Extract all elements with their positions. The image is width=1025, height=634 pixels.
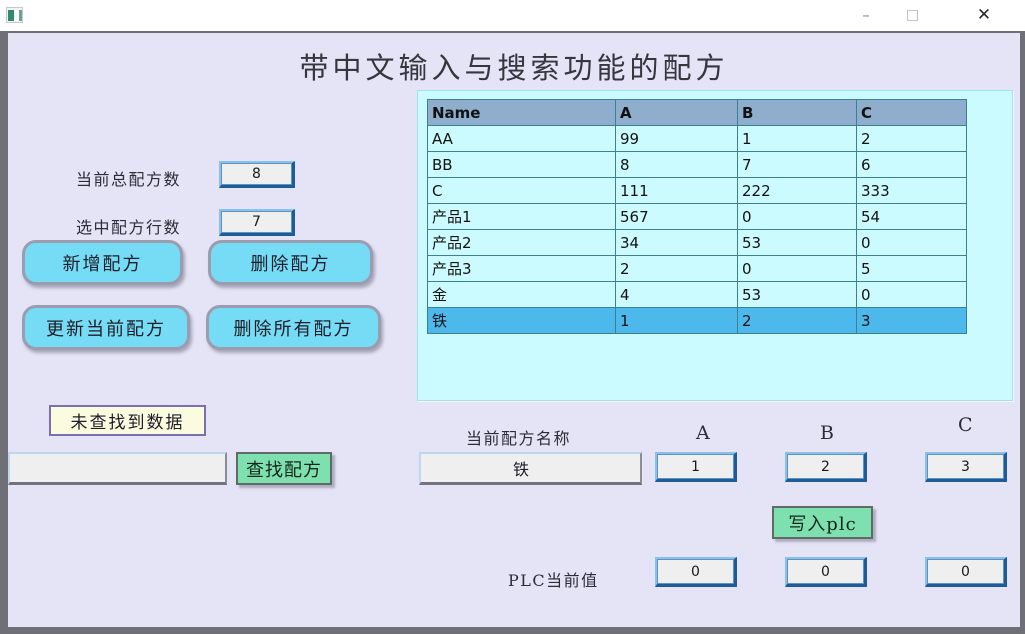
table-cell-name[interactable]: BB (428, 152, 616, 178)
table-cell-b[interactable]: 0 (738, 204, 857, 230)
table-cell-name[interactable]: 产品1 (428, 204, 616, 230)
page-title: 带中文输入与搜索功能的配方 (8, 45, 1020, 87)
search-button[interactable]: 查找配方 (236, 452, 332, 485)
table-row[interactable]: 产品1567054 (428, 204, 967, 230)
close-icon[interactable]: ✕ (961, 0, 1007, 31)
table-row[interactable]: BB876 (428, 152, 967, 178)
table-cell-a[interactable]: 111 (616, 178, 738, 204)
table-header-c[interactable]: C (857, 100, 967, 126)
table-cell-c[interactable]: 6 (857, 152, 967, 178)
table-cell-a[interactable]: 4 (616, 282, 738, 308)
delete-recipe-button[interactable]: 删除配方 (208, 240, 373, 285)
total-recipes-label: 当前总配方数 (76, 166, 181, 190)
table-cell-b[interactable]: 53 (738, 230, 857, 256)
column-a-label: A (696, 422, 710, 444)
table-row[interactable]: 金4530 (428, 282, 967, 308)
table-row[interactable]: AA9912 (428, 126, 967, 152)
table-cell-c[interactable]: 0 (857, 282, 967, 308)
table-header-name[interactable]: Name (428, 100, 616, 126)
window-frame: 带中文输入与搜索功能的配方 当前总配方数 8 选中配方行数 7 新增配方 删除配… (0, 31, 1025, 634)
table-cell-name[interactable]: 产品2 (428, 230, 616, 256)
client-area: 带中文输入与搜索功能的配方 当前总配方数 8 选中配方行数 7 新增配方 删除配… (8, 33, 1020, 627)
table-header-row: Name A B C (428, 100, 967, 126)
table-cell-a[interactable]: 99 (616, 126, 738, 152)
table-cell-c[interactable]: 333 (857, 178, 967, 204)
app-icon (6, 7, 23, 23)
table-cell-a[interactable]: 8 (616, 152, 738, 178)
delete-all-recipes-button[interactable]: 删除所有配方 (206, 305, 381, 350)
table-body: AA9912BB876C111222333产品1567054产品234530产品… (428, 126, 967, 334)
table-cell-name[interactable]: C (428, 178, 616, 204)
table-cell-b[interactable]: 2 (738, 308, 857, 334)
table-cell-b[interactable]: 53 (738, 282, 857, 308)
recipe-name-label: 当前配方名称 (466, 425, 571, 449)
table-cell-b[interactable]: 222 (738, 178, 857, 204)
table-header-b[interactable]: B (738, 100, 857, 126)
table-cell-a[interactable]: 567 (616, 204, 738, 230)
table-row[interactable]: 产品3205 (428, 256, 967, 282)
table-cell-c[interactable]: 3 (857, 308, 967, 334)
update-recipe-button[interactable]: 更新当前配方 (22, 305, 190, 350)
search-input[interactable] (8, 452, 227, 485)
add-recipe-button[interactable]: 新增配方 (22, 240, 183, 285)
recipe-name-input[interactable] (419, 452, 642, 485)
table-header-a[interactable]: A (616, 100, 738, 126)
table-row[interactable]: 产品234530 (428, 230, 967, 256)
selected-row-label: 选中配方行数 (76, 214, 181, 238)
value-a-field[interactable]: 1 (655, 452, 737, 482)
table-cell-c[interactable]: 5 (857, 256, 967, 282)
table-row[interactable]: 铁123 (428, 308, 967, 334)
plc-value-b: 0 (785, 557, 867, 587)
table-cell-b[interactable]: 1 (738, 126, 857, 152)
table-cell-a[interactable]: 1 (616, 308, 738, 334)
table-cell-b[interactable]: 0 (738, 256, 857, 282)
recipe-table-panel: Name A B C AA9912BB876C111222333产品156705… (417, 90, 1013, 401)
table-cell-c[interactable]: 54 (857, 204, 967, 230)
search-status-text: 未查找到数据 (49, 405, 206, 436)
table-row[interactable]: C111222333 (428, 178, 967, 204)
maximize-icon[interactable] (889, 0, 935, 31)
column-c-label: C (958, 414, 973, 436)
table-cell-name[interactable]: 铁 (428, 308, 616, 334)
table-cell-c[interactable]: 0 (857, 230, 967, 256)
application-window: – ✕ 带中文输入与搜索功能的配方 当前总配方数 8 选中配方行数 7 新增配方… (0, 0, 1025, 634)
selected-row-value: 7 (219, 209, 295, 236)
plc-current-value-label: PLC当前值 (508, 567, 599, 591)
table-cell-b[interactable]: 7 (738, 152, 857, 178)
minimize-icon[interactable]: – (843, 0, 889, 31)
table-cell-c[interactable]: 2 (857, 126, 967, 152)
recipe-table[interactable]: Name A B C AA9912BB876C111222333产品156705… (427, 99, 967, 334)
table-cell-a[interactable]: 34 (616, 230, 738, 256)
table-cell-name[interactable]: 金 (428, 282, 616, 308)
table-cell-a[interactable]: 2 (616, 256, 738, 282)
total-recipes-value: 8 (219, 161, 295, 188)
plc-value-c: 0 (925, 557, 1007, 587)
write-plc-button[interactable]: 写入plc (772, 506, 873, 539)
table-cell-name[interactable]: 产品3 (428, 256, 616, 282)
column-b-label: B (820, 422, 834, 444)
title-bar: – ✕ (0, 0, 1025, 32)
value-b-field[interactable]: 2 (785, 452, 867, 482)
table-cell-name[interactable]: AA (428, 126, 616, 152)
plc-value-a: 0 (655, 557, 737, 587)
value-c-field[interactable]: 3 (925, 452, 1007, 482)
